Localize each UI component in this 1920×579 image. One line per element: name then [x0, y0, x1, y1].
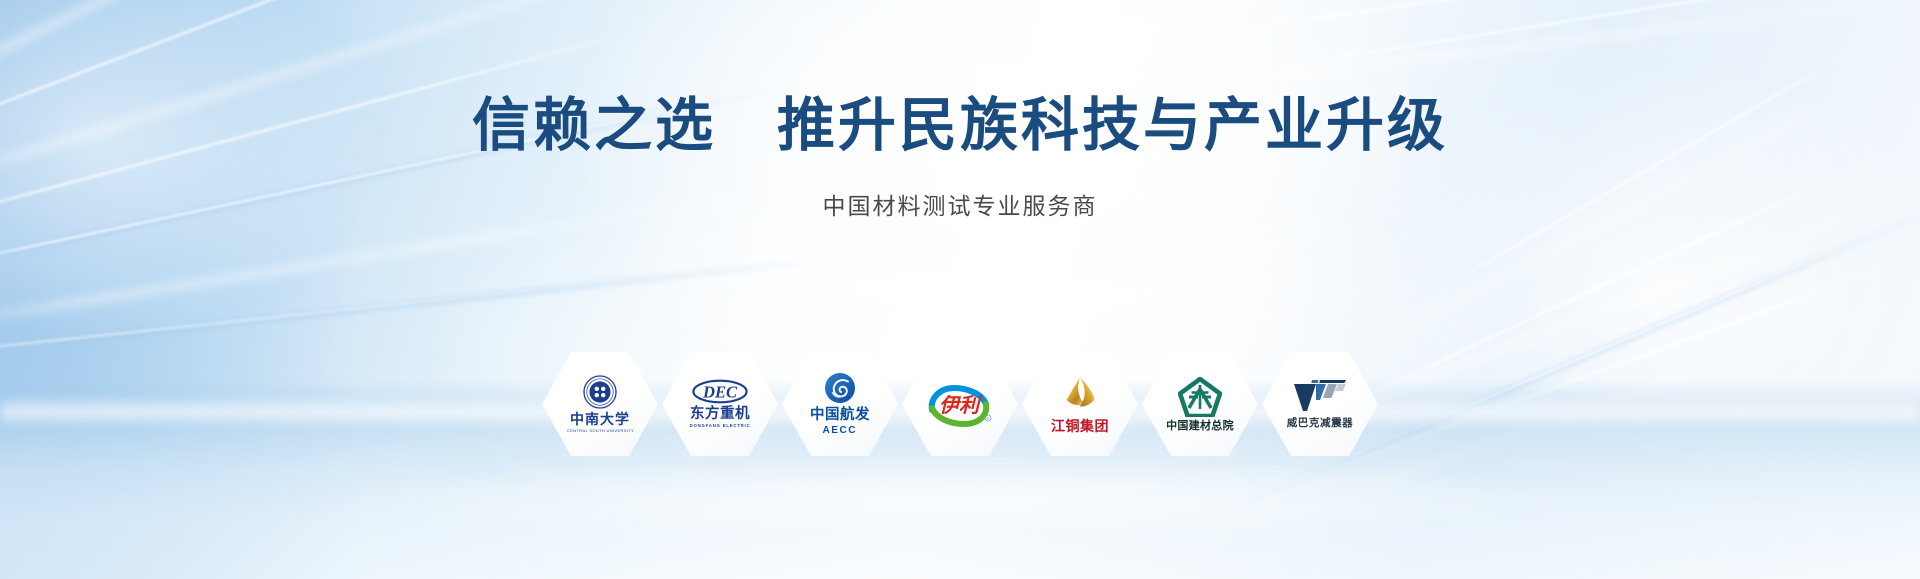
partner-name-cn: 中国航发 [810, 408, 870, 423]
hero-banner: 信赖之选 推升民族科技与产业升级 中国材料测试专业服务商 [0, 0, 1920, 579]
partner-name-en: AECC [823, 425, 858, 435]
partner-name-cn: 中南大学 [570, 412, 630, 426]
partner-name-cn: 东方重机 [690, 407, 750, 422]
partner-hexagon-jxcc[interactable]: 江铜集团 [1022, 352, 1138, 456]
yili-swoosh-icon: 伊利 R [924, 380, 996, 428]
partner-name-cn: 中国建材总院 [1166, 421, 1234, 432]
partner-name-cn: 伊利 [939, 394, 982, 417]
dec-oval-icon: DEC [692, 379, 748, 404]
banner-copy: 信赖之选 推升民族科技与产业升级 中国材料测试专业服务商 [0, 0, 1920, 221]
partner-name-en: DONGFANG ELECTRIC [690, 424, 751, 428]
svg-text:DEC: DEC [702, 383, 738, 402]
svg-text:R: R [987, 416, 990, 421]
jxcc-gold-trefoil-icon [1059, 375, 1101, 415]
partner-hexagon-cbma[interactable]: 中国建材总院 [1142, 352, 1258, 456]
partner-name-en: CENTRAL SOUTH UNIVERSITY [566, 429, 633, 433]
partner-hexagon-csu[interactable]: 中南大学 CENTRAL SOUTH UNIVERSITY [542, 352, 658, 456]
partner-hexagon-aecc[interactable]: 中国航发 AECC [782, 352, 898, 456]
cbma-pentagon-icon [1178, 377, 1222, 417]
csu-seal-icon [583, 375, 617, 409]
partner-name-cn: 威巴克减震器 [1287, 418, 1354, 429]
partner-hexagon-vibracoustic[interactable]: 威巴克减震器 [1262, 352, 1378, 456]
vibracoustic-v-icon [1292, 379, 1348, 413]
partner-hexagon-dec[interactable]: DEC 东方重机 DONGFANG ELECTRIC [662, 352, 778, 456]
partner-name-cn: 江铜集团 [1051, 419, 1109, 433]
banner-headline: 信赖之选 推升民族科技与产业升级 [0, 96, 1920, 157]
banner-subheadline: 中国材料测试专业服务商 [0, 187, 1920, 221]
partner-logo-row: 中南大学 CENTRAL SOUTH UNIVERSITY DEC 东方重机 D… [0, 352, 1920, 456]
partner-hexagon-yili[interactable]: 伊利 R 伊利 [902, 352, 1018, 456]
aecc-swirl-icon [824, 372, 856, 404]
floor-sheen [300, 459, 1620, 539]
